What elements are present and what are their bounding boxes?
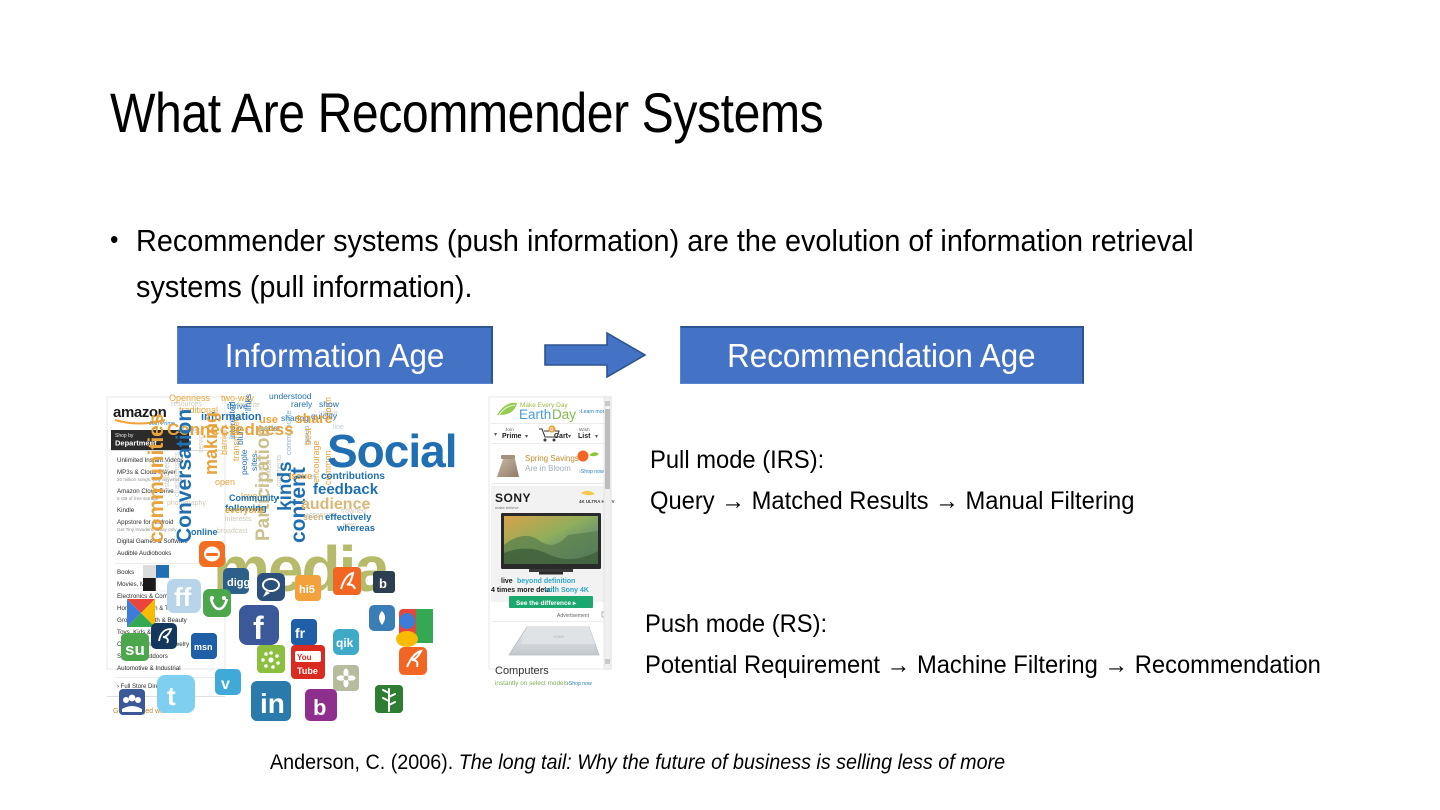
svg-text:Books: Books xyxy=(117,569,134,576)
svg-text:beyond definition: beyond definition xyxy=(517,578,575,585)
push-mode-flow: Potential Requirement → Machine Filterin… xyxy=(645,649,1321,682)
svg-text:msn: msn xyxy=(194,642,213,652)
svg-text:su: su xyxy=(125,640,145,659)
svg-text:Prime: Prime xyxy=(502,433,522,440)
svg-text:open: open xyxy=(215,477,235,487)
citation-authors: Anderson, C. (2006). xyxy=(270,751,453,774)
svg-text:with Sony 4K: with Sony 4K xyxy=(544,587,589,594)
push-mode-block: Push mode (RS): Potential Requirement → … xyxy=(645,608,1321,681)
transition-arrow-icon xyxy=(543,331,647,379)
social-media-amazon-collage: amazon Join Prime Shop by Department Unl… xyxy=(105,393,615,731)
svg-text:List: List xyxy=(578,433,591,440)
svg-text:Social: Social xyxy=(327,425,457,477)
svg-text:show: show xyxy=(319,399,340,409)
svg-text:▾: ▾ xyxy=(595,434,598,440)
yelp-icon xyxy=(333,665,359,691)
svg-text:ff: ff xyxy=(174,582,192,612)
svg-text:qik: qik xyxy=(336,636,354,650)
google-buzz-icon xyxy=(396,609,433,647)
amazon-right-column: Make Every Day Earth Day ›Learn more ▾ J… xyxy=(489,397,615,687)
svg-text:Kindle: Kindle xyxy=(117,507,135,514)
svg-text:digg: digg xyxy=(227,577,250,589)
svg-text:t: t xyxy=(167,681,176,711)
netvibes-icon xyxy=(257,645,285,673)
flock-icon xyxy=(369,605,395,631)
svg-text:›Shop now: ›Shop now xyxy=(567,681,592,687)
svg-text:Audible Audiobooks: Audible Audiobooks xyxy=(117,550,171,557)
svg-text:›Shop now: ›Shop now xyxy=(579,469,604,475)
svg-text:Computers: Computers xyxy=(495,665,549,677)
svg-text:▾: ▾ xyxy=(568,434,571,440)
pull-mode-title: Pull mode (IRS): xyxy=(650,444,1134,477)
push-mode-title: Push mode (RS): xyxy=(645,608,1321,641)
svg-text:best: best xyxy=(303,427,313,445)
citation: Anderson, C. (2006). The long tail: Why … xyxy=(270,751,1005,775)
svg-text:0: 0 xyxy=(550,427,553,433)
svg-text:Conversation: Conversation xyxy=(173,409,196,543)
chat-icon xyxy=(257,573,285,601)
svg-text:Tube: Tube xyxy=(297,666,318,676)
facebook-icon: f xyxy=(239,605,279,646)
linkedin-icon: in xyxy=(251,681,291,721)
friendster-icon xyxy=(333,567,361,595)
technorati-icon xyxy=(151,623,177,649)
svg-text:You: You xyxy=(297,653,312,662)
page-title: What Are Recommender Systems xyxy=(110,82,823,144)
pull-mode-block: Pull mode (IRS): Query → Matched Results… xyxy=(650,444,1134,517)
pull-mode-flow: Query → Matched Results → Manual Filteri… xyxy=(650,485,1134,518)
svg-text:▾: ▾ xyxy=(494,432,497,438)
svg-text:hi5: hi5 xyxy=(299,584,315,596)
delicious-icon xyxy=(399,647,427,675)
svg-text:Day: Day xyxy=(552,407,576,422)
meetup-icon xyxy=(119,689,145,715)
hi5-icon: hi5 xyxy=(295,575,321,601)
svg-text:everyone: everyone xyxy=(225,505,265,515)
svg-text:communities: communities xyxy=(145,413,168,543)
svg-text:interests: interests xyxy=(225,516,252,523)
stumbleupon-icon: su xyxy=(121,633,149,661)
friendfeed-icon: ff xyxy=(167,579,201,613)
svg-text:audience: audience xyxy=(301,496,370,513)
svg-text:b: b xyxy=(379,576,387,591)
msn-icon: msn xyxy=(191,633,217,659)
mixx-icon: fr xyxy=(291,619,317,645)
svg-text:fr: fr xyxy=(295,625,306,641)
google-icon xyxy=(127,599,155,627)
bebo-b-icon: b xyxy=(373,571,395,593)
svg-text:seen: seen xyxy=(303,512,324,522)
svg-text:effectively: effectively xyxy=(325,512,372,523)
svg-text:v: v xyxy=(221,676,230,693)
recommendation-age-label: Recommendation Age xyxy=(727,337,1035,375)
svg-text:making: making xyxy=(201,412,221,475)
citation-work: The long tail: Why the future of busines… xyxy=(459,751,1005,774)
vimeo-icon: v xyxy=(215,669,241,695)
svg-text:Advertisement: Advertisement xyxy=(557,613,590,619)
svg-text:f: f xyxy=(253,610,264,646)
bullet-paragraph: • Recommender systems (push information)… xyxy=(110,218,1207,310)
svg-text:Participation: Participation xyxy=(253,426,274,541)
information-age-box[interactable]: Information Age xyxy=(177,326,493,384)
svg-text:SONY: SONY xyxy=(495,491,531,505)
svg-text:Automotive & Industrial: Automotive & Industrial xyxy=(117,665,181,672)
svg-text:share: share xyxy=(295,410,333,426)
bullet-marker: • xyxy=(110,218,136,260)
information-age-label: Information Age xyxy=(225,337,445,375)
svg-text:▾: ▾ xyxy=(525,434,528,440)
svg-text:Earth: Earth xyxy=(519,407,551,422)
blogger-icon xyxy=(199,541,225,567)
microsoft-icon xyxy=(143,565,169,591)
svg-text:people: people xyxy=(239,449,249,475)
bullet-row: • Recommender systems (push information)… xyxy=(110,218,1207,310)
svg-text:Openness: Openness xyxy=(169,393,211,403)
svg-text:b: b xyxy=(313,695,326,720)
svg-text:See the difference ▸: See the difference ▸ xyxy=(516,600,577,607)
bullet-text: Recommender systems (push information) a… xyxy=(136,218,1207,310)
svg-text:make.believe: make.believe xyxy=(495,505,519,510)
svg-text:issue: issue xyxy=(289,471,312,481)
svg-text:Are in Bloom: Are in Bloom xyxy=(525,464,571,473)
svg-text:Cart: Cart xyxy=(554,433,569,440)
svg-text:live: live xyxy=(501,578,513,585)
svg-text:instantly on select models: instantly on select models xyxy=(495,680,568,687)
twitter-icon: t xyxy=(157,675,195,713)
svg-text:SONY: SONY xyxy=(553,634,565,639)
svg-text:›Learn more: ›Learn more xyxy=(579,409,607,415)
bebo-icon: b xyxy=(305,689,337,721)
viadeo-icon xyxy=(203,589,231,617)
svg-text:Spring Savings: Spring Savings xyxy=(525,454,579,463)
svg-text:Community: Community xyxy=(229,493,279,503)
svg-text:in: in xyxy=(260,688,285,719)
recommendation-age-box[interactable]: Recommendation Age xyxy=(680,326,1084,384)
qik-icon: qik xyxy=(333,629,359,655)
svg-text:rarely: rarely xyxy=(291,399,313,409)
plaxo-icon xyxy=(375,685,403,713)
svg-text:tv: tv xyxy=(311,474,317,481)
youtube-icon: You Tube xyxy=(291,645,325,679)
